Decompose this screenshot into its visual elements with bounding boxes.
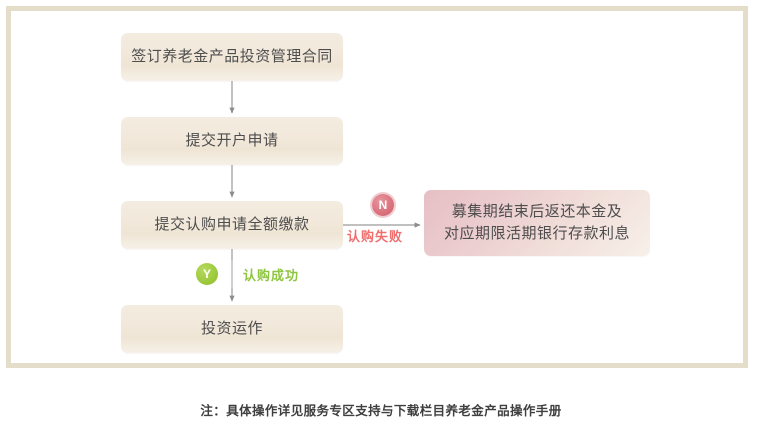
node-sign-contract[interactable]: 签订养老金产品投资管理合同 — [121, 33, 343, 81]
branch-label-subscription-failure: 认购失败 — [347, 226, 403, 245]
branch-badge-yes-letter: Y — [203, 267, 211, 281]
footer-note: 注：具体操作详见服务专区支持与下载栏目养老金产品操作手册 — [0, 400, 762, 419]
branch-label-subscription-success: 认购成功 — [243, 265, 299, 284]
node-label-line-1: 募集期结束后返还本金及 — [444, 201, 630, 223]
node-label: 提交认购申请全额缴款 — [154, 214, 309, 236]
node-submit-account-application[interactable]: 提交开户申请 — [121, 117, 343, 165]
workflow-diagram: 签订养老金产品投资管理合同 提交开户申请 提交认购申请全额缴款 投资运作 募集期… — [0, 0, 762, 380]
node-label: 签订养老金产品投资管理合同 — [131, 46, 333, 68]
node-submit-subscription-payment[interactable]: 提交认购申请全额缴款 — [121, 201, 343, 249]
branch-badge-no-icon: N — [372, 194, 394, 216]
node-label: 投资运作 — [201, 318, 263, 340]
connector-lines — [0, 0, 762, 380]
branch-badge-no-letter: N — [379, 198, 388, 212]
branch-badge-yes-icon: Y — [196, 263, 218, 285]
node-investment-operation[interactable]: 投资运作 — [121, 305, 343, 353]
node-label: 提交开户申请 — [185, 130, 278, 152]
node-refund-principal-and-interest[interactable]: 募集期结束后返还本金及 对应期限活期银行存款利息 — [424, 190, 650, 256]
node-label-line-2: 对应期限活期银行存款利息 — [444, 223, 630, 245]
